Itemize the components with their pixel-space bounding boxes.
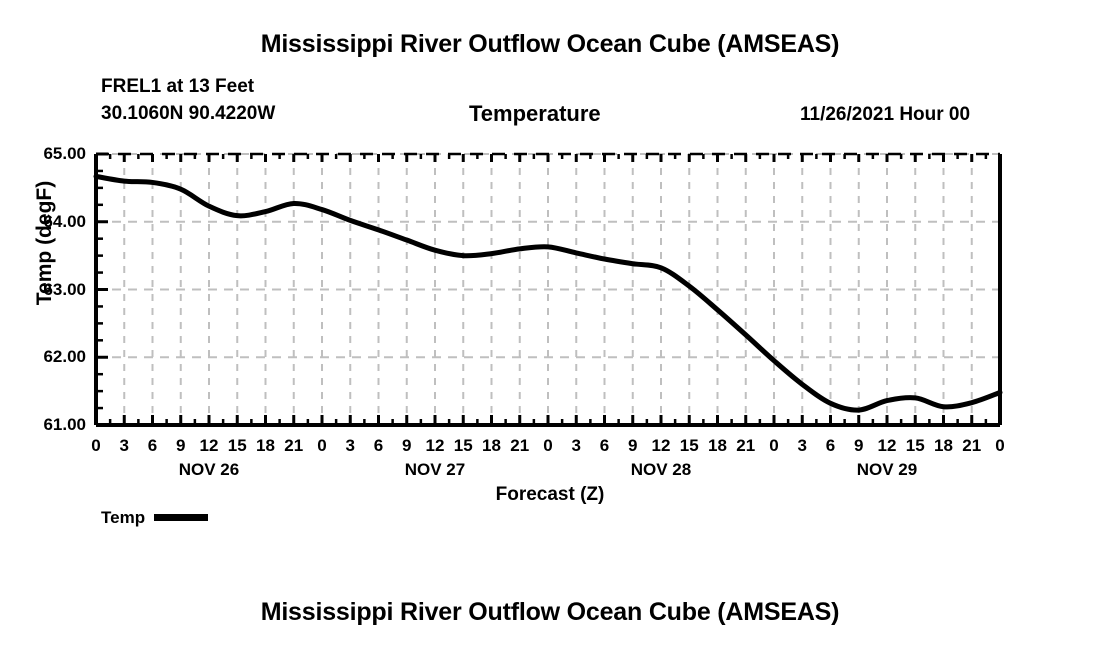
page-title-bottom: Mississippi River Outflow Ocean Cube (AM… (0, 598, 1100, 627)
legend: Temp (101, 509, 208, 526)
legend-swatch-temp (154, 514, 208, 521)
x-axis-title: Forecast (Z) (0, 484, 1100, 506)
x-day-label: NOV 28 (581, 461, 741, 478)
chart-page: Mississippi River Outflow Ocean Cube (AM… (0, 0, 1100, 650)
legend-label-temp: Temp (101, 509, 145, 526)
x-day-label: NOV 29 (807, 461, 967, 478)
x-day-label: NOV 26 (129, 461, 289, 478)
x-day-label: NOV 27 (355, 461, 515, 478)
x-tick-label: 0 (980, 437, 1020, 454)
x-axis-tick-labels: 0369121518210369121518210369121518210369… (0, 0, 1100, 650)
